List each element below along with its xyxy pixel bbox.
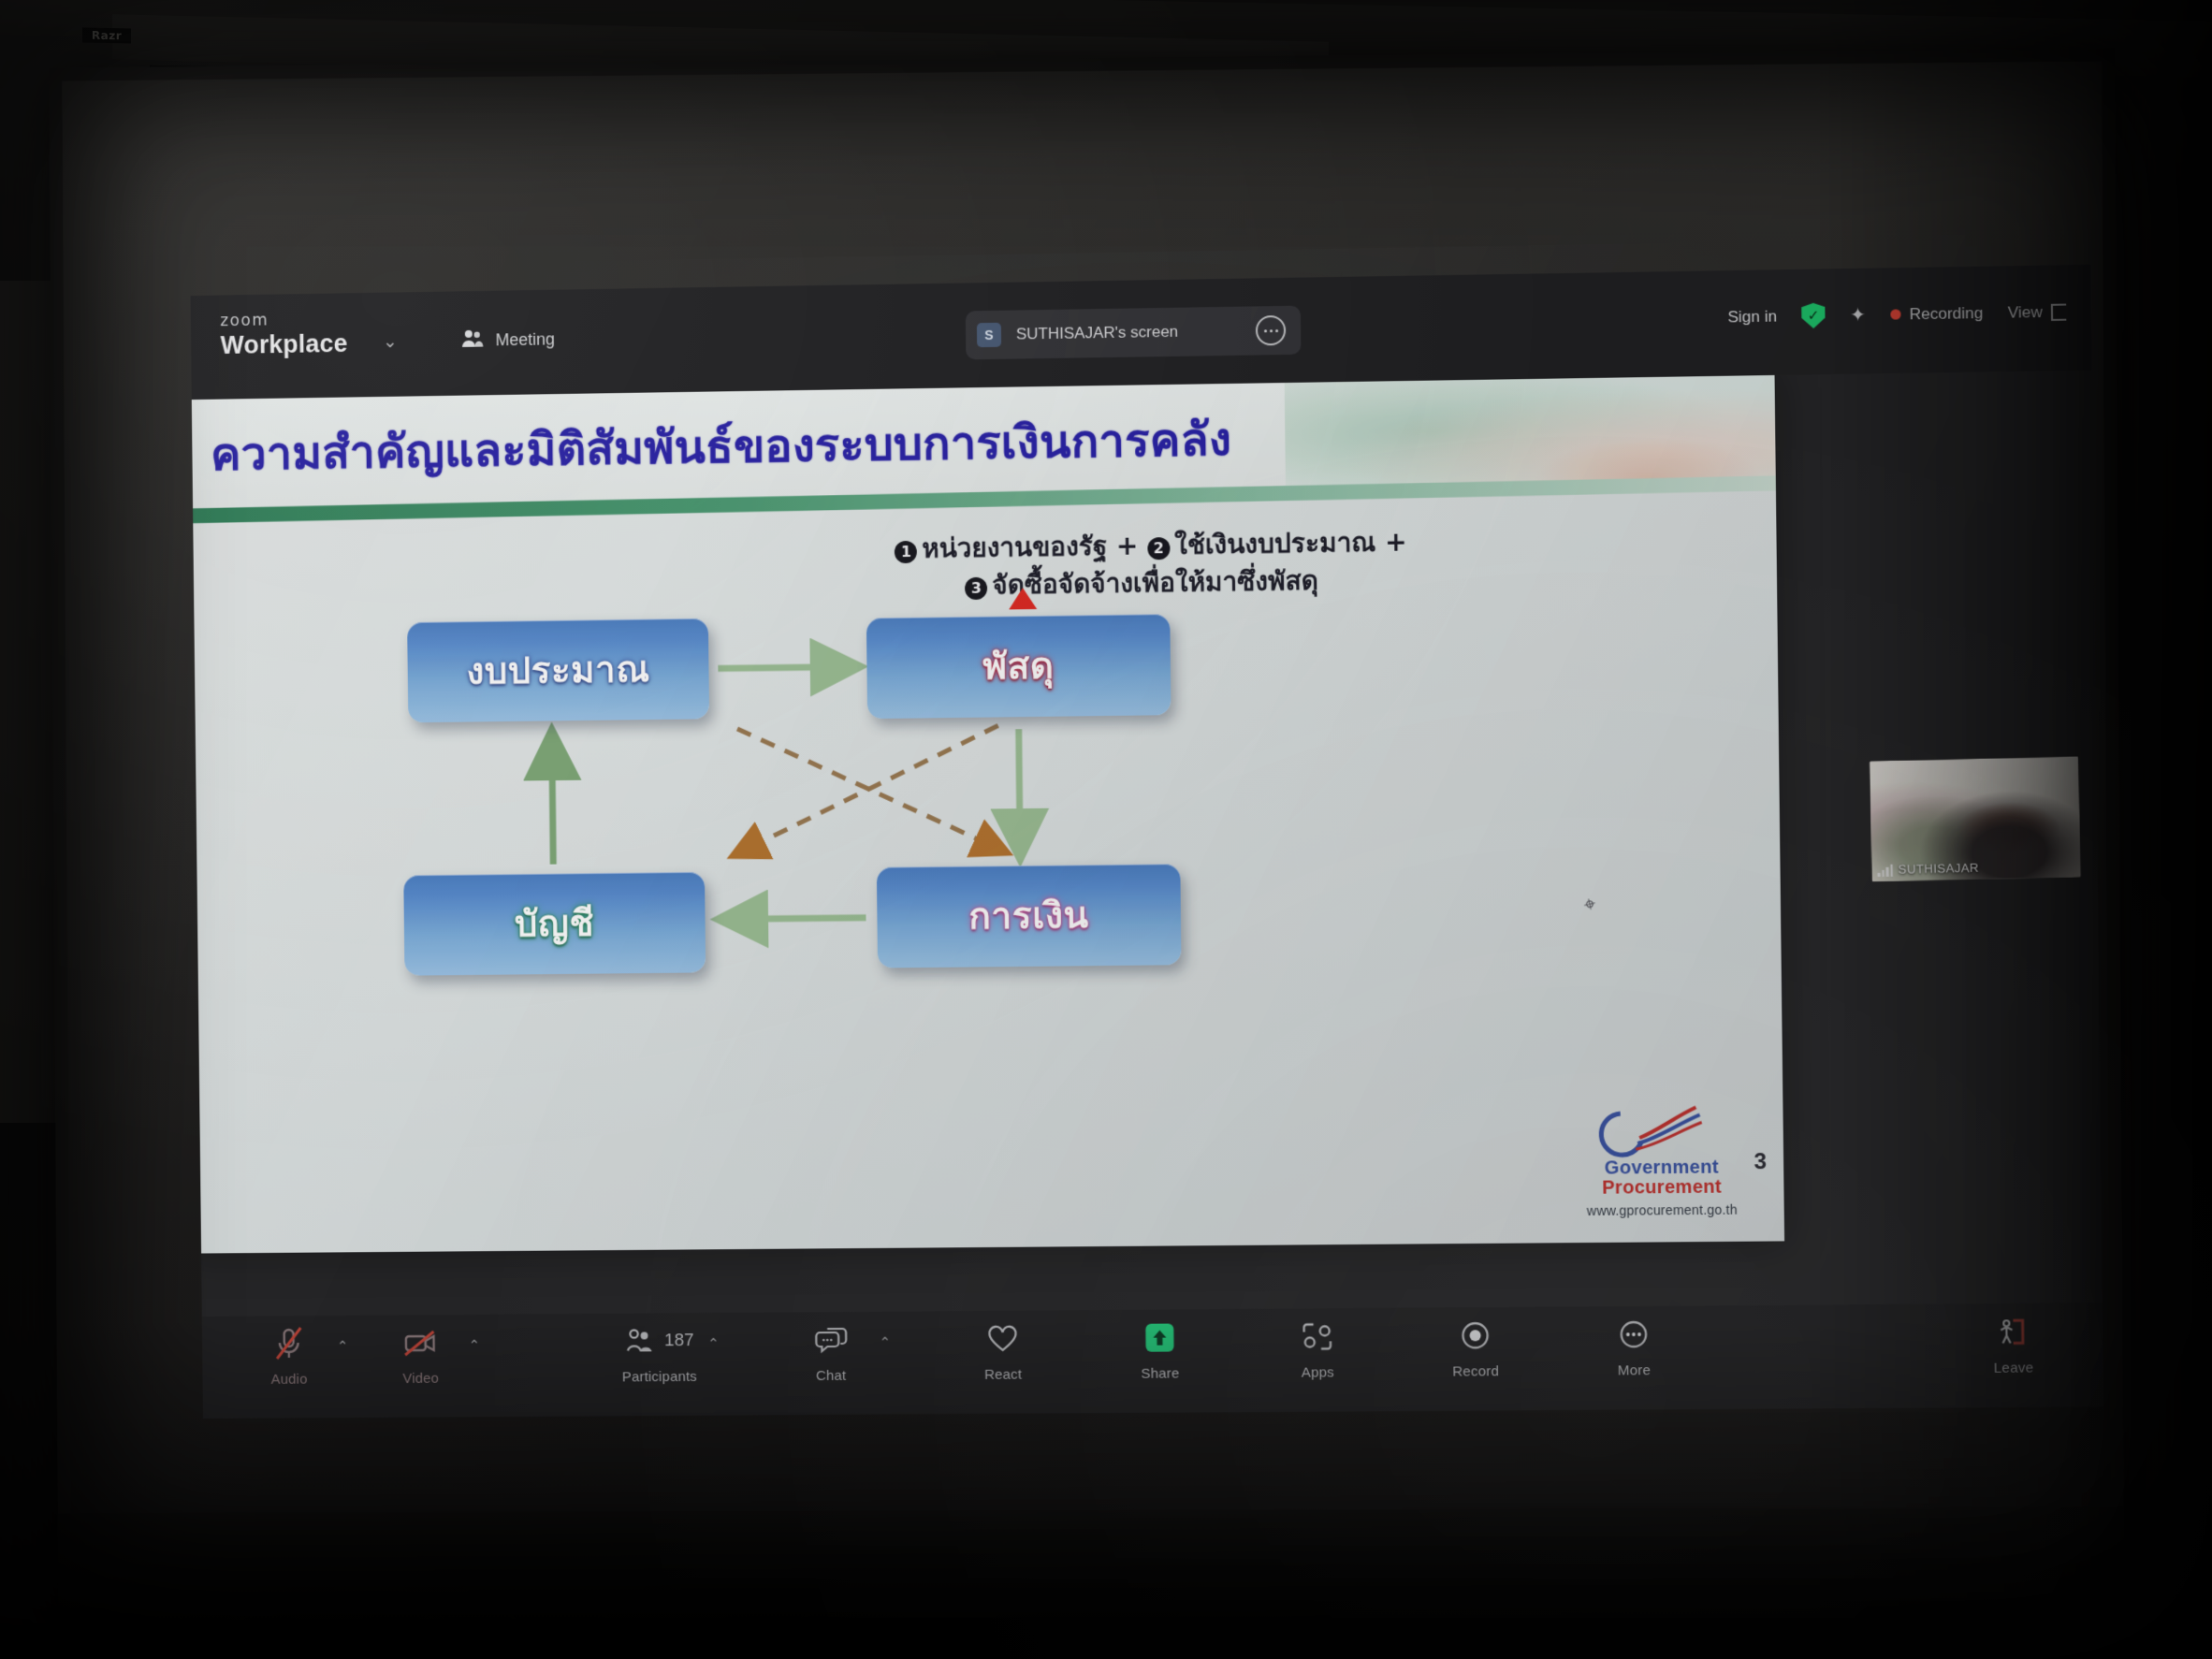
- screen-share-status-bar[interactable]: S SUTHISAJAR's screen: [966, 306, 1302, 360]
- meeting-tab-label: Meeting: [495, 329, 555, 350]
- diagram-node-budget[interactable]: งบประมาณ: [407, 618, 709, 723]
- zoom-meeting-window[interactable]: zoom Workplace ⌄ Meeting: [191, 265, 2104, 1419]
- relationship-diagram-arrows: [192, 375, 1784, 1254]
- zoom-brand: zoom Workplace: [220, 310, 347, 360]
- shield-check-glyph: ✓: [1808, 309, 1820, 323]
- arrow-finance-to-account: [722, 918, 866, 920]
- red-triangle-pointer: [1009, 588, 1037, 609]
- slide-page-number: 3: [1754, 1149, 1767, 1175]
- screen-share-label: SUTHISAJAR's screen: [1016, 322, 1241, 344]
- arrow-supply-to-finance: [1019, 729, 1021, 854]
- arrow-budget-to-supply: [718, 666, 855, 668]
- logo-swoosh-icon: [1571, 1101, 1752, 1159]
- diagram-node-finance-label: การเงิน: [968, 886, 1089, 945]
- avatar: S: [977, 323, 1001, 347]
- zoom-brand-wordmark: zoom: [220, 310, 347, 330]
- meeting-tab[interactable]: Meeting: [460, 327, 555, 353]
- photographed-room: Razr zoom Workplace ⌄: [0, 0, 2212, 1659]
- diagram-node-accounting[interactable]: บัญชี: [403, 872, 706, 976]
- diagram-node-budget-label: งบประมาณ: [466, 640, 650, 700]
- diagram-node-accounting-label: บัญชี: [515, 895, 595, 953]
- device-badge: Razr: [82, 28, 131, 44]
- chevron-down-icon[interactable]: ⌄: [383, 331, 398, 353]
- arrow-account-to-budget: [552, 735, 554, 864]
- diagram-node-supply[interactable]: พัสดุ: [866, 614, 1171, 719]
- diagram-node-finance[interactable]: การเงิน: [877, 864, 1182, 968]
- floor-shadow: [0, 1322, 2212, 1659]
- more-options-icon[interactable]: [1256, 315, 1286, 346]
- shared-screen-stage: ความสำคัญและมิติสัมพันธ์ของระบบการเงินกา…: [192, 371, 2103, 1318]
- logo-text-procurement: Procurement: [1572, 1177, 1752, 1199]
- logo-url: www.gprocurement.go.th: [1572, 1201, 1752, 1218]
- people-icon: [460, 328, 485, 354]
- gprocurement-logo: Government Procurement www.gprocurement.…: [1571, 1101, 1752, 1218]
- logo-text-government: Government: [1572, 1157, 1752, 1179]
- presentation-slide: ความสำคัญและมิติสัมพันธ์ของระบบการเงินกา…: [192, 375, 1784, 1254]
- diagram-node-supply-label: พัสดุ: [982, 637, 1055, 696]
- sign-in-button[interactable]: Sign in: [1727, 307, 1777, 327]
- zoom-brand-product: Workplace: [220, 328, 347, 360]
